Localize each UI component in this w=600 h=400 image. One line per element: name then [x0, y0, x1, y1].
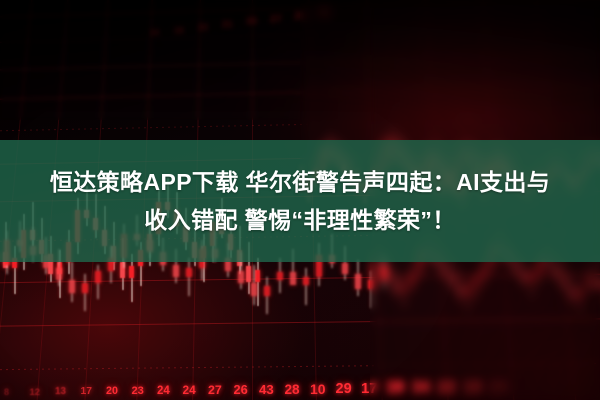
candlestick-wick: [404, 277, 405, 308]
candlestick-body: [394, 279, 398, 292]
candlestick-body: [514, 261, 518, 271]
candlestick-body: [238, 271, 244, 283]
candlestick-body: [450, 274, 454, 284]
candlestick-body: [264, 286, 270, 295]
candlestick-body: [277, 272, 283, 280]
candlestick-wick: [85, 274, 86, 311]
candlestick-body: [578, 290, 582, 298]
headline-band: 恒达策略APP下载 华尔街警告声四起：AI支出与 收入错配 警惕“非理性繁荣”！: [0, 140, 600, 262]
candlestick-wick: [267, 277, 268, 314]
candlestick-wick: [257, 258, 258, 306]
candlestick-body: [466, 287, 470, 295]
candlestick-body: [82, 283, 88, 292]
candlestick-body: [173, 265, 179, 277]
headline-line-2: 收入错配 警惕“非理性繁荣”！: [144, 201, 455, 239]
headline-line-1: 恒达策略APP下载 华尔街警告声四起：AI支出与: [50, 163, 550, 201]
stock-chart-banner: 1418222130272621 81213172023242427264328…: [0, 0, 600, 400]
candlestick-wick: [189, 258, 190, 295]
candlestick-body: [458, 285, 462, 295]
candlestick-body: [402, 285, 406, 293]
candlestick-body: [378, 264, 382, 271]
candlestick-body: [303, 277, 309, 285]
candlestick-body: [586, 278, 590, 285]
candlestick-body: [370, 264, 374, 282]
candlestick-body: [410, 272, 414, 285]
candlestick-wick: [532, 266, 533, 297]
candlestick-wick: [306, 268, 307, 305]
candlestick-body: [56, 268, 62, 280]
candlestick-body: [570, 287, 574, 297]
candlestick-body: [186, 268, 192, 277]
candlestick-body: [474, 277, 478, 287]
candlestick-body: [562, 277, 566, 287]
candlestick-body: [251, 283, 257, 295]
candlestick-body: [594, 278, 598, 288]
candlestick-body: [482, 266, 486, 276]
candlestick-body: [522, 272, 526, 282]
candlestick-body: [355, 274, 361, 290]
candlestick-body: [342, 263, 348, 274]
candlestick-body: [95, 271, 101, 283]
candlestick-wick: [580, 282, 581, 313]
candlestick-body: [386, 270, 390, 279]
candlestick-wick: [468, 279, 469, 310]
candlestick-body: [554, 266, 558, 276]
candlestick-body: [69, 280, 75, 292]
candlestick-body: [442, 264, 446, 274]
candlestick-body: [290, 272, 296, 284]
candlestick-body: [530, 274, 534, 282]
